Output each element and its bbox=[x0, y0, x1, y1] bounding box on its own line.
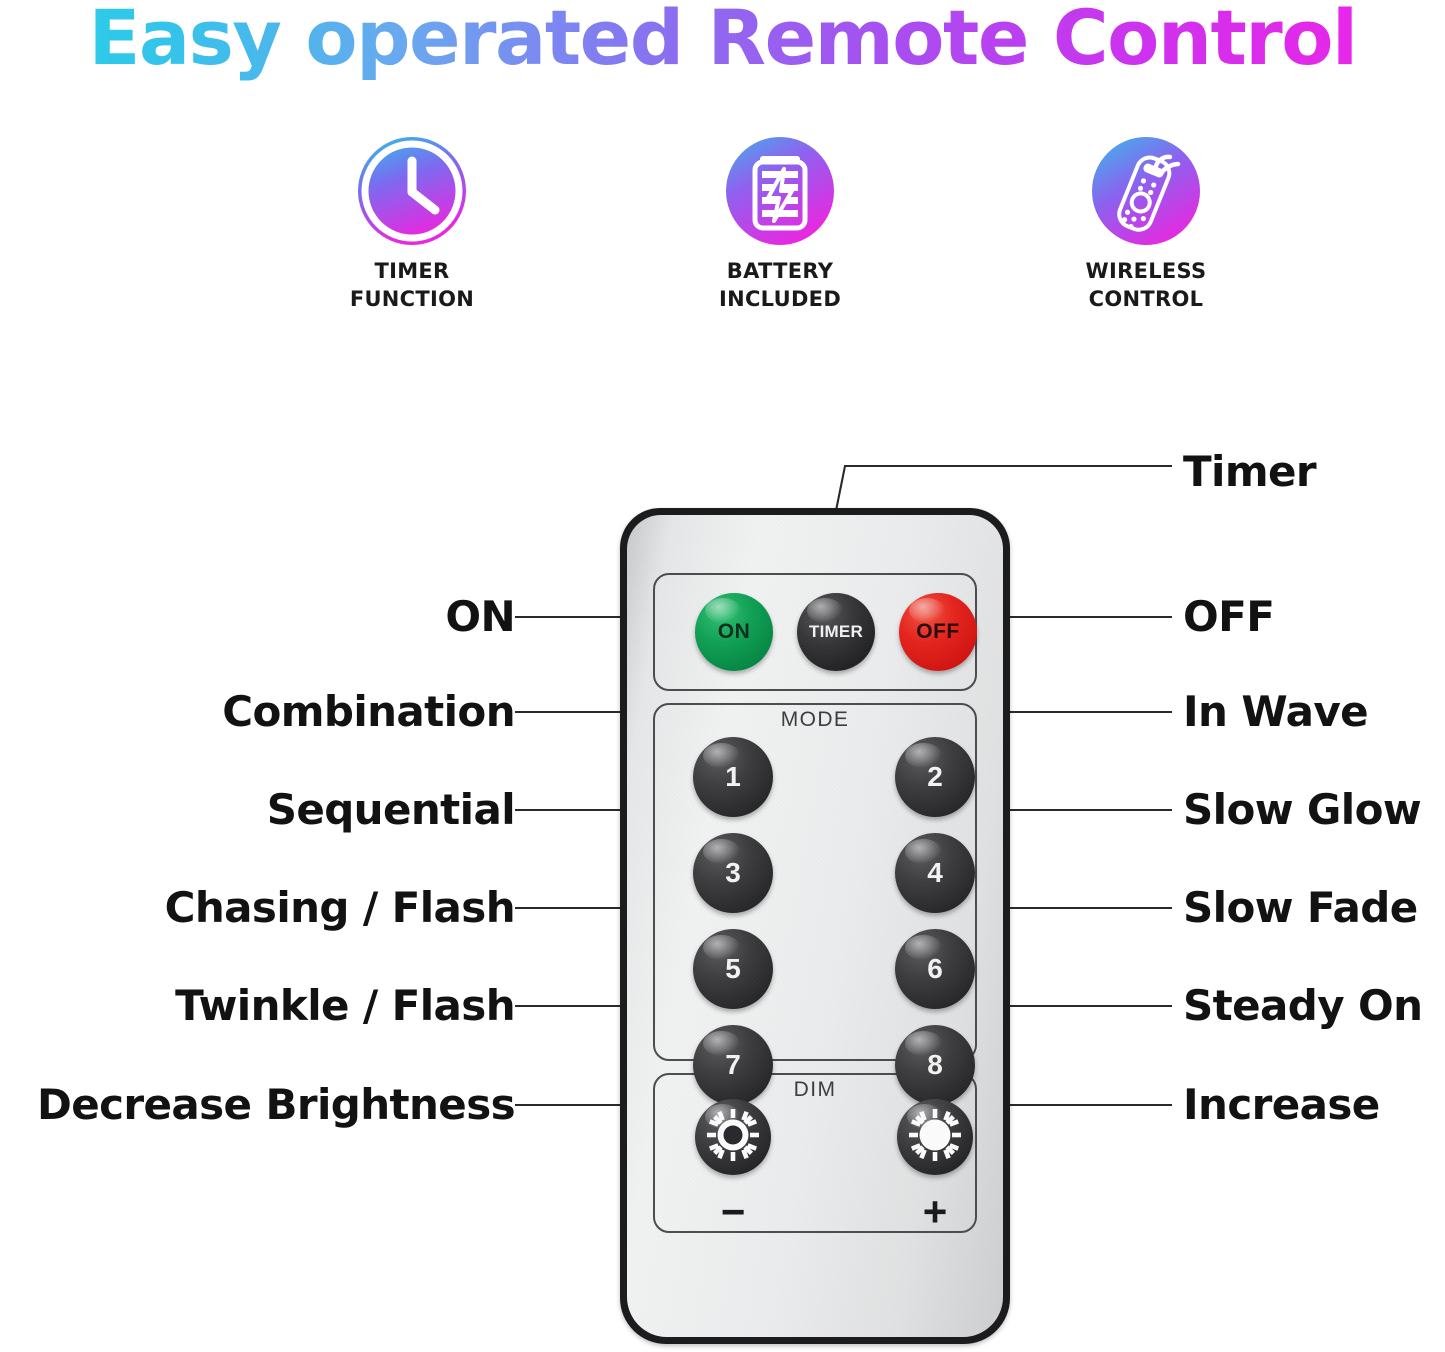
callout-timer: Timer bbox=[1183, 451, 1316, 493]
remote-control-device: ON TIMER OFF MODE 1 2 3 4 5 bbox=[620, 508, 1010, 1344]
callout-slow-glow: Slow Glow bbox=[1183, 789, 1421, 831]
timer-button-label: TIMER bbox=[809, 622, 863, 642]
clock-icon bbox=[356, 135, 468, 247]
off-button[interactable]: OFF bbox=[899, 593, 977, 671]
callout-in-wave: In Wave bbox=[1183, 691, 1368, 733]
mode-button-label: 8 bbox=[927, 1049, 943, 1081]
feature-battery-included: BATTERY INCLUDED bbox=[665, 135, 895, 314]
feature-label: WIRELESS CONTROL bbox=[1031, 258, 1261, 314]
feature-label: TIMER FUNCTION bbox=[297, 258, 527, 314]
mode-button-4[interactable]: 4 bbox=[895, 833, 975, 913]
plus-sign: + bbox=[905, 1191, 965, 1233]
callout-chasing-flash: Chasing / Flash bbox=[0, 887, 515, 929]
dim-section-label: DIM bbox=[627, 1078, 1003, 1102]
mode-button-label: 5 bbox=[725, 953, 741, 985]
sun-bright-icon bbox=[905, 1105, 965, 1170]
on-button[interactable]: ON bbox=[695, 593, 773, 671]
mode-button-1[interactable]: 1 bbox=[693, 737, 773, 817]
sun-dim-icon bbox=[703, 1105, 763, 1170]
timer-button[interactable]: TIMER bbox=[797, 593, 875, 671]
callout-off: OFF bbox=[1183, 596, 1274, 638]
battery-icon bbox=[724, 135, 836, 247]
decrease-brightness-button[interactable] bbox=[695, 1099, 771, 1175]
minus-sign: − bbox=[703, 1191, 763, 1233]
callout-sequential: Sequential bbox=[0, 789, 515, 831]
mode-button-label: 2 bbox=[927, 761, 943, 793]
remote-faceplate: ON TIMER OFF MODE 1 2 3 4 5 bbox=[627, 515, 1003, 1337]
mode-button-label: 6 bbox=[927, 953, 943, 985]
callout-twinkle-flash: Twinkle / Flash bbox=[0, 985, 515, 1027]
button-highlight bbox=[807, 598, 843, 623]
callout-slow-fade: Slow Fade bbox=[1183, 887, 1418, 929]
increase-brightness-button[interactable] bbox=[897, 1099, 973, 1175]
mode-button-label: 4 bbox=[927, 857, 943, 889]
mode-section-label: MODE bbox=[627, 708, 1003, 732]
page-title: Easy operated Remote Control bbox=[0, 0, 1445, 82]
mode-button-5[interactable]: 5 bbox=[693, 929, 773, 1009]
remote-icon bbox=[1090, 135, 1202, 247]
mode-button-label: 7 bbox=[725, 1049, 741, 1081]
callout-increase: Increase bbox=[1183, 1084, 1380, 1126]
callout-on: ON bbox=[0, 596, 515, 638]
mode-button-6[interactable]: 6 bbox=[895, 929, 975, 1009]
callout-steady-on: Steady On bbox=[1183, 985, 1422, 1027]
feature-wireless-control: WIRELESS CONTROL bbox=[1031, 135, 1261, 314]
feature-timer-function: TIMER FUNCTION bbox=[297, 135, 527, 314]
mode-button-2[interactable]: 2 bbox=[895, 737, 975, 817]
mode-button-label: 3 bbox=[725, 857, 741, 889]
mode-button-3[interactable]: 3 bbox=[693, 833, 773, 913]
mode-button-label: 1 bbox=[725, 761, 741, 793]
callout-decrease-brightness: Decrease Brightness bbox=[0, 1084, 515, 1126]
feature-label: BATTERY INCLUDED bbox=[665, 258, 895, 314]
on-button-label: ON bbox=[718, 620, 751, 644]
off-button-label: OFF bbox=[916, 620, 960, 644]
callout-combination: Combination bbox=[0, 691, 515, 733]
